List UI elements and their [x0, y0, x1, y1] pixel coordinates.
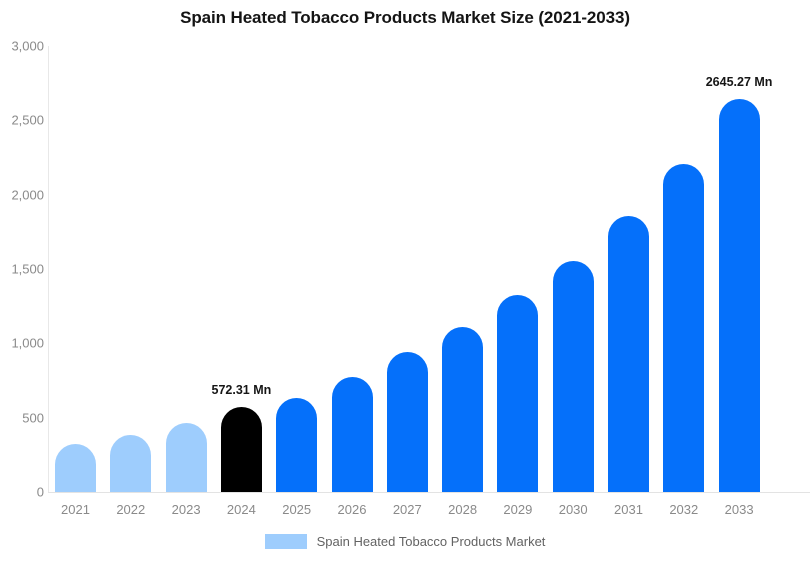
- bar-2022[interactable]: [110, 435, 151, 492]
- chart-legend: Spain Heated Tobacco Products Market: [0, 534, 810, 549]
- x-axis-tick-label-2028: 2028: [433, 502, 493, 517]
- legend-swatch-icon: [265, 534, 307, 549]
- x-axis-tick-label-2024: 2024: [211, 502, 271, 517]
- bar-2025[interactable]: [276, 398, 317, 492]
- x-axis-tick-label-2032: 2032: [654, 502, 714, 517]
- x-axis-tick-label-2031: 2031: [599, 502, 659, 517]
- bar-2030[interactable]: [553, 261, 594, 492]
- bar-value-label-2033: 2645.27 Mn: [679, 75, 799, 89]
- bar-chart: Spain Heated Tobacco Products Market Siz…: [0, 0, 810, 562]
- bars-layer: 2021202220232024572.31 Mn202520262027202…: [0, 0, 810, 562]
- bar-2031[interactable]: [608, 216, 649, 492]
- legend-item-label: Spain Heated Tobacco Products Market: [317, 534, 546, 549]
- x-axis-tick-label-2025: 2025: [267, 502, 327, 517]
- x-axis-tick-label-2027: 2027: [377, 502, 437, 517]
- bar-2032[interactable]: [663, 164, 704, 492]
- x-axis-tick-label-2023: 2023: [156, 502, 216, 517]
- x-axis-tick-label-2033: 2033: [709, 502, 769, 517]
- x-axis-tick-label-2029: 2029: [488, 502, 548, 517]
- bar-2026[interactable]: [332, 377, 373, 492]
- bar-2027[interactable]: [387, 352, 428, 492]
- x-axis-tick-label-2021: 2021: [46, 502, 106, 517]
- bar-value-label-2024: 572.31 Mn: [181, 383, 301, 397]
- bar-2028[interactable]: [442, 327, 483, 492]
- bar-2023[interactable]: [166, 423, 207, 492]
- bar-2024[interactable]: [221, 407, 262, 492]
- bar-2021[interactable]: [55, 444, 96, 492]
- bar-2033[interactable]: [719, 99, 760, 492]
- x-axis-tick-label-2022: 2022: [101, 502, 161, 517]
- x-axis-tick-label-2030: 2030: [543, 502, 603, 517]
- x-axis-tick-label-2026: 2026: [322, 502, 382, 517]
- bar-2029[interactable]: [497, 295, 538, 492]
